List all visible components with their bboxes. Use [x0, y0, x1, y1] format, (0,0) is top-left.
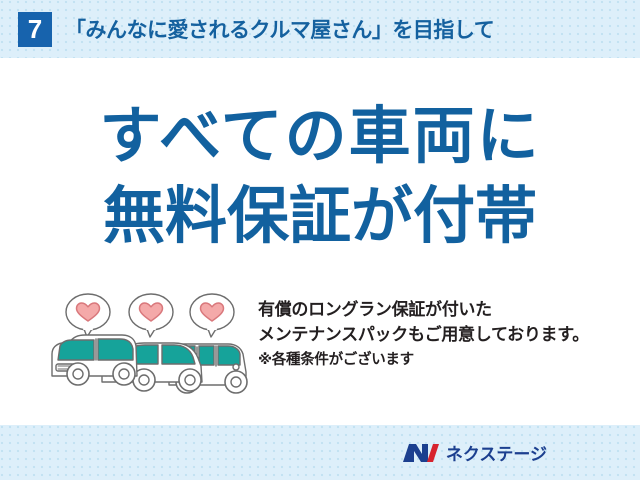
- footer: ネクステージ: [0, 425, 640, 480]
- car-kei-wagon: [52, 335, 137, 385]
- promo-banner: 7 「みんなに愛されるクルマ屋さん」を目指して すべての車両に 無料保証が付帯: [0, 0, 640, 480]
- nextage-n-mark-icon: [401, 441, 439, 465]
- headline-line-2: 無料保証が付帯: [0, 176, 640, 256]
- heart-bubble-1: [66, 294, 110, 337]
- note-line-1: 有償のロングラン保証が付いた: [258, 298, 630, 323]
- brand-name: ネクステージ: [446, 440, 547, 465]
- content-row: 有償のロングラン保証が付いた メンテナンスパックもご用意しております。 ※各種条…: [0, 288, 640, 413]
- note-text-block: 有償のロングラン保証が付いた メンテナンスパックもご用意しております。 ※各種条…: [258, 298, 630, 372]
- brand-logo: ネクステージ: [401, 440, 547, 465]
- heart-bubble-2: [129, 294, 173, 337]
- heart-bubble-3: [190, 294, 234, 337]
- three-cars-svg: [40, 288, 255, 406]
- section-number-badge: 7: [18, 12, 52, 47]
- note-line-2: メンテナンスパックもご用意しております。: [258, 323, 630, 348]
- note-line-3-disclaimer: ※各種条件がございます: [258, 348, 630, 372]
- headline: すべての車両に 無料保証が付帯: [0, 96, 640, 256]
- header: 7 「みんなに愛されるクルマ屋さん」を目指して: [0, 0, 640, 58]
- headline-line-1: すべての車両に: [0, 96, 640, 176]
- cars-illustration: [40, 288, 255, 406]
- header-title: 「みんなに愛されるクルマ屋さん」を目指して: [65, 14, 494, 44]
